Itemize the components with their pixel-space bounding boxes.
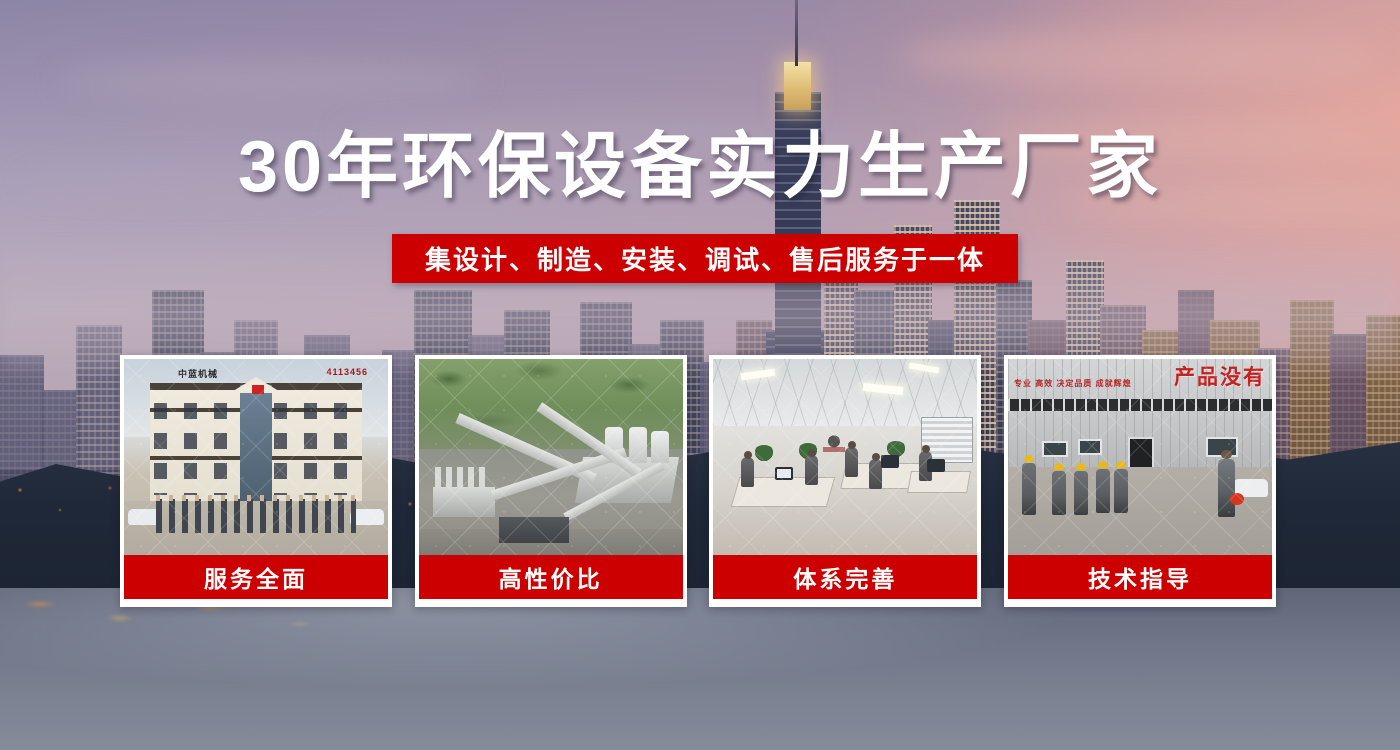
feature-card[interactable]: 中蓝机械 4113456 服务全面: [120, 355, 392, 607]
banner-headline: 30年环保设备实力生产厂家: [0, 131, 1400, 203]
feature-card-list: 中蓝机械 4113456 服务全面: [120, 355, 1276, 607]
banner-subtitle-text: 集设计、制造、安装、调试、售后服务于一体: [425, 240, 985, 277]
feature-card-caption-text: 技术指导: [1088, 560, 1192, 594]
building-sign-text: 中蓝机械: [178, 367, 218, 380]
office-interior-photo: [713, 359, 977, 555]
wall-logo: [821, 433, 847, 457]
banner-subtitle-bar: 集设计、制造、安装、调试、售后服务于一体: [392, 234, 1018, 283]
feature-card-caption: 高性价比: [419, 555, 683, 599]
factory-sign-text: 产品没有: [1174, 361, 1266, 391]
feature-card[interactable]: 体系完善: [709, 355, 981, 607]
building-phone-text: 4113456: [326, 367, 368, 377]
tower-crown-light: [784, 62, 811, 110]
technical-training-photo: 产品没有 专业 高效 决定品质 成就辉煌: [1008, 359, 1272, 555]
red-helmet-icon: [1230, 493, 1244, 505]
feature-card-caption: 服务全面: [124, 555, 388, 599]
feature-card[interactable]: 产品没有 专业 高效 决定品质 成就辉煌 技术指导: [1004, 355, 1276, 607]
flag-icon: [252, 385, 264, 394]
feature-card-caption: 技术指导: [1008, 555, 1272, 599]
company-headquarters-photo: 中蓝机械 4113456: [124, 359, 388, 555]
factory-sign-small-text: 专业 高效 决定品质 成就辉煌: [1014, 379, 1132, 390]
feature-card-caption-text: 服务全面: [204, 560, 308, 594]
production-plant-aerial-photo: [419, 359, 683, 555]
tower-spire: [795, 0, 798, 66]
feature-card[interactable]: 高性价比: [415, 355, 687, 607]
feature-card-caption: 体系完善: [713, 555, 977, 599]
feature-card-caption-text: 体系完善: [793, 560, 897, 594]
promo-banner: 30年环保设备实力生产厂家 集设计、制造、安装、调试、售后服务于一体 中蓝机械 …: [0, 0, 1400, 750]
feature-card-caption-text: 高性价比: [499, 560, 603, 594]
